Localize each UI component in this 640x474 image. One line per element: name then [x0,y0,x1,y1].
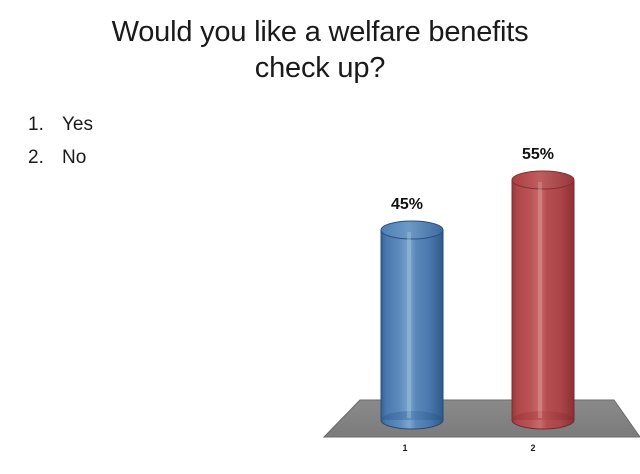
list-item-number: 1. [28,108,62,141]
category-axis-label-1: 1 [385,443,425,453]
list-item-label: No [62,141,268,174]
slide-canvas: Would you like a welfare benefits check … [0,0,640,474]
page-title-line-1: Would you like a welfare benefits [40,14,600,50]
bar-cylinder-1 [381,221,443,429]
bar-value-label-2: 55% [498,146,578,164]
poll-options-list: 1. Yes 2. No [28,108,268,174]
list-item: 2. No [28,141,268,174]
category-axis-label-2: 2 [513,443,553,453]
chart-floor [324,400,640,437]
list-item-label: Yes [62,108,268,141]
page-title-line-2: check up? [40,50,600,86]
bar-cylinder-2 [512,171,574,429]
list-item: 1. Yes [28,108,268,141]
bar-value-label-1: 45% [367,196,447,214]
list-item-number: 2. [28,141,62,174]
page-title: Would you like a welfare benefits check … [40,14,600,86]
poll-results-chart: 45% 55% 1 2 [315,140,640,474]
chart-graphic [315,140,640,474]
